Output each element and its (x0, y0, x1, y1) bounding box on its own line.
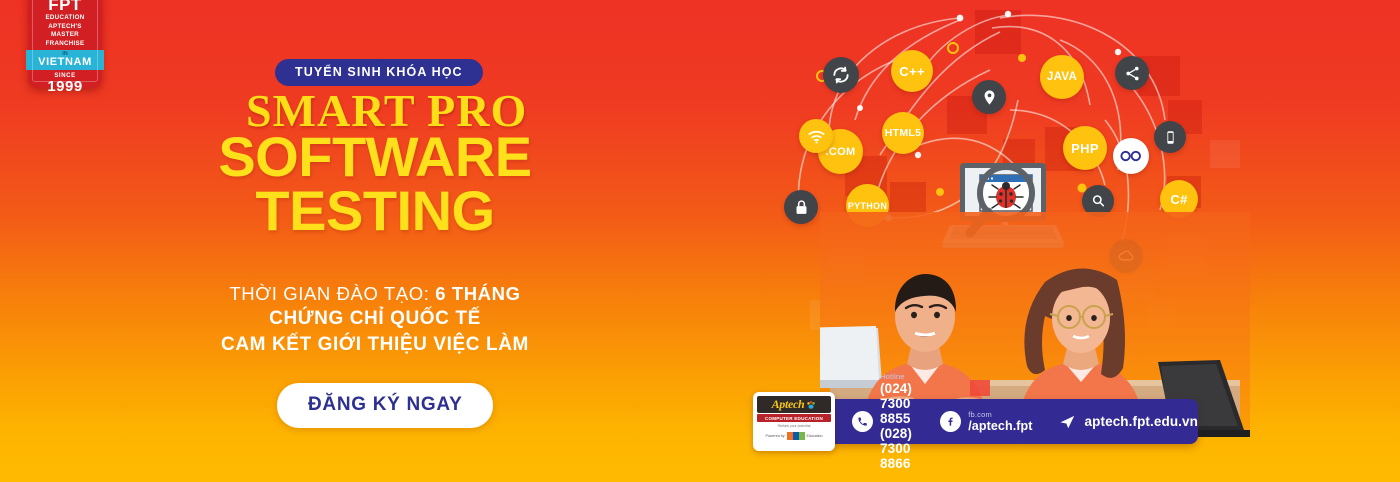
wifi-icon (799, 119, 833, 153)
aptech-logo-card: Aptech COMPUTER EDUCATION Rethink your p… (753, 392, 835, 451)
fpt-line1: EDUCATION (45, 14, 84, 22)
aptech-partner-line: Powered by Education (757, 432, 831, 440)
hotline-number-2: (028) 7300 8866 (880, 426, 913, 471)
aptech-tagline: COMPUTER EDUCATION (757, 414, 831, 422)
cpp-node: C++ (891, 50, 933, 92)
headline-line-1: SOFTWARE (190, 130, 560, 184)
python-node-label: PYTHON (848, 201, 887, 211)
fpt-line4: FRANCHISE (46, 40, 85, 48)
duration-value: 6 THÁNG (435, 283, 520, 304)
aptech-logo-top: Aptech (757, 396, 831, 413)
fpt-ribbon-main: VIETNAM (26, 57, 104, 68)
dotcom-node-label: .COM (826, 146, 856, 158)
refresh-icon (823, 57, 859, 93)
fpt-corner-logo: FPT EDUCATION APTECH'S MASTER FRANCHISE … (28, 0, 102, 88)
cpp-node-label: C++ (899, 64, 924, 79)
lock-icon (784, 190, 818, 224)
aptech-name: Aptech (772, 397, 805, 412)
course-details: THỜI GIAN ĐÀO TẠO: 6 THÁNG CHỨNG CHỈ QUỐ… (140, 282, 610, 358)
register-button[interactable]: ĐĂNG KÝ NGAY (277, 383, 493, 428)
phone-icon (852, 411, 873, 432)
job-guarantee-line: CAM KẾT GIỚI THIỆU VIỆC LÀM (140, 332, 610, 358)
fpt-line3: MASTER (51, 31, 79, 39)
hotline-block[interactable]: Hotline (024) 7300 8855 (028) 7300 8866 (852, 372, 913, 471)
location-pin-icon (972, 80, 1006, 114)
page-title: SOFTWARE TESTING (190, 130, 560, 238)
infinity-devops-icon (1113, 138, 1149, 174)
facebook-handle: /aptech.fpt (968, 419, 1032, 433)
facebook-block[interactable]: fb.com /aptech.fpt (940, 410, 1032, 433)
website-url: aptech.fpt.edu.vn (1085, 414, 1198, 429)
share-icon (1115, 56, 1149, 90)
hotline-number-1: (024) 7300 8855 (880, 381, 913, 426)
aptech-slogan: Rethink your potential (757, 424, 831, 428)
headline-line-2: TESTING (190, 184, 560, 238)
aptech-partner-suffix: Education (807, 434, 823, 438)
fpt-since-year: 1999 (47, 79, 82, 94)
csharp-node-label: C# (1170, 192, 1187, 207)
php-node-label: PHP (1071, 141, 1099, 156)
facebook-label: fb.com (968, 410, 1032, 419)
duration-label: THỜI GIAN ĐÀO TẠO: (229, 283, 435, 304)
hotline-label: Hotline (880, 372, 913, 381)
java-node-label: JAVA (1047, 71, 1077, 83)
contact-bar: Hotline (024) 7300 8855 (028) 7300 8866 … (790, 399, 1198, 444)
duration-line: THỜI GIAN ĐÀO TẠO: 6 THÁNG (140, 282, 610, 306)
certificate-line: CHỨNG CHỈ QUỐC TẾ (140, 306, 610, 332)
html5-node: HTML5 (882, 112, 924, 154)
fpt-mark-icon (787, 432, 805, 440)
java-node: JAVA (1040, 55, 1084, 99)
website-block[interactable]: aptech.fpt.edu.vn (1059, 413, 1198, 430)
course-badge: TUYỂN SINH KHÓA HỌC (275, 59, 483, 86)
html5-node-label: HTML5 (885, 127, 922, 139)
paw-icon (806, 400, 816, 410)
fpt-brand: FPT (48, 0, 82, 13)
fpt-line2: APTECH'S (48, 23, 81, 31)
facebook-icon (940, 411, 961, 432)
fpt-ribbon: IN VIETNAM (26, 50, 104, 70)
promo-banner: FPT EDUCATION APTECH'S MASTER FRANCHISE … (0, 0, 1400, 482)
paper-plane-icon (1059, 413, 1077, 430)
mobile-icon (1154, 121, 1186, 153)
aptech-partner-prefix: Powered by (766, 434, 785, 438)
